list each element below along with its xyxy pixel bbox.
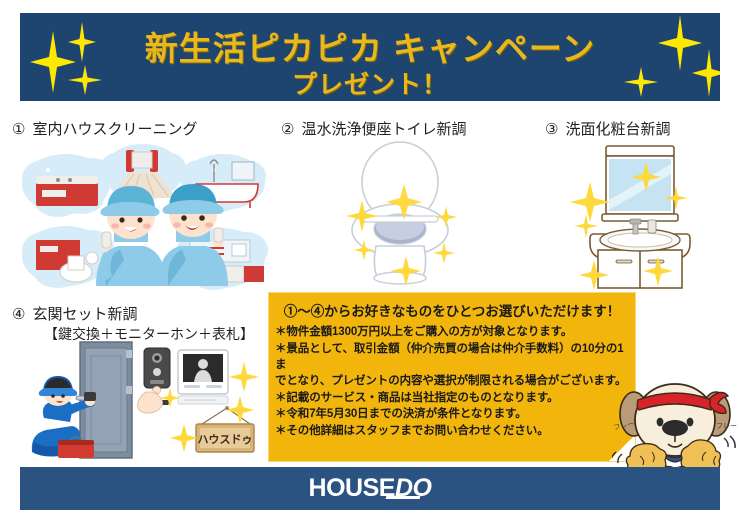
footer-bar: HOUSE DO	[20, 467, 720, 510]
item-label-1: ①室内ハウスクリーニング	[12, 118, 197, 139]
illustration-cleaning-crew	[18, 140, 270, 292]
poster-canvas: 新生活ピカピカ キャンペーン プレゼント！ ①室内ハウスクリーニング ②温水洗浄…	[0, 0, 740, 523]
illustration-dog-mascot: フレー フレー	[612, 378, 738, 474]
illustration-vanity	[560, 140, 720, 290]
terms-notes-box: ①〜④からお好きなものをひとつお選びいただけます！ ＊物件金額1300万円以上を…	[268, 292, 636, 462]
item-number-1: ①	[12, 121, 25, 138]
item-label-4: ④玄関セット新調	[12, 303, 137, 324]
item-number-3: ③	[545, 121, 558, 138]
housedo-logo: HOUSE DO	[20, 467, 720, 510]
notes-line-3: でとなり、プレゼントの内容や選択が制限される場合がございます。	[269, 373, 635, 389]
notes-line-2: ＊景品として、取引金額（仲介売買の場合は仲介手数料）の10分の1ま	[269, 341, 635, 374]
notes-line-4: ＊記載のサービス・商品は当社指定のものとなります。	[269, 390, 635, 407]
item-label-3: ③洗面化粧台新調	[545, 118, 670, 139]
item-number-2: ②	[281, 121, 294, 138]
item-text-3: 洗面化粧台新調	[565, 121, 670, 138]
logo-do-text: DO	[395, 474, 432, 503]
notes-line-1: ＊物件金額1300万円以上をご購入の方が対象となります。	[269, 324, 635, 341]
notes-headline: ①〜④からお好きなものをひとつお選びいただけます！	[269, 300, 635, 320]
nameplate-text: ハウスドゥ	[198, 433, 253, 446]
illustration-entrance-set: ハウスドゥ	[18, 340, 268, 462]
campaign-title: 新生活ピカピカ キャンペーン	[20, 22, 720, 70]
item-label-2: ②温水洗浄便座トイレ新調	[281, 118, 466, 139]
logo-house-text: HOUSE	[309, 474, 395, 503]
illustration-toilet	[300, 140, 500, 288]
header-banner: 新生活ピカピカ キャンペーン プレゼント！	[20, 13, 720, 101]
notes-line-5: ＊令和7年5月30日までの決済が条件となります。	[269, 406, 635, 423]
item-number-4: ④	[12, 306, 25, 323]
campaign-subtitle: プレゼント！	[20, 65, 720, 101]
item-text-4: 玄関セット新調	[32, 306, 137, 323]
mascot-cheer-right: フレー	[716, 422, 737, 430]
item-text-1: 室内ハウスクリーニング	[32, 121, 197, 138]
notes-line-6: ＊その他詳細はスタッフまでお問い合わせください。	[269, 423, 635, 440]
item-text-2: 温水洗浄便座トイレ新調	[301, 121, 466, 138]
